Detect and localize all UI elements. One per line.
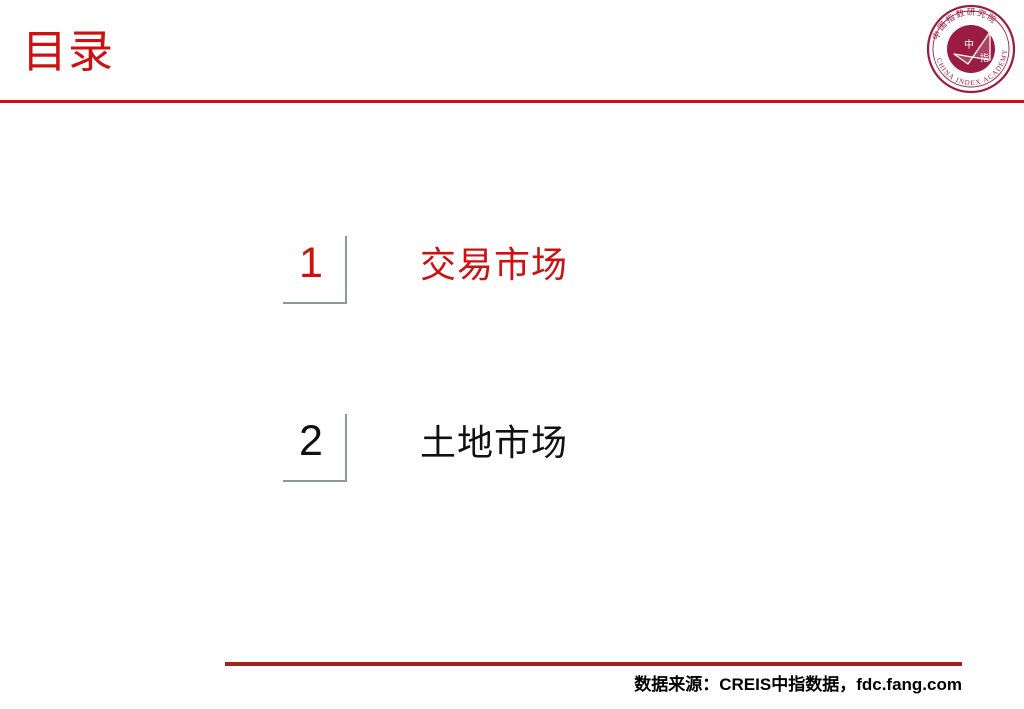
- toc-number-box-2: 2: [283, 414, 347, 482]
- header-divider: [0, 100, 1024, 103]
- slide: 目录 中 指 中国指数研究院 CHINA INDEX ACADEMY: [0, 0, 1024, 709]
- china-index-academy-logo-icon: 中 指 中国指数研究院 CHINA INDEX ACADEMY: [924, 2, 1018, 96]
- slide-footer: 数据来源：CREIS中指数据，fdc.fang.com: [0, 644, 1024, 709]
- table-of-contents: 1 交易市场 2 土地市场: [0, 104, 1024, 644]
- toc-label-1[interactable]: 交易市场: [420, 240, 568, 290]
- data-source-note: 数据来源：CREIS中指数据，fdc.fang.com: [0, 672, 962, 698]
- toc-item-1[interactable]: 1 交易市场: [283, 236, 883, 308]
- svg-text:指: 指: [980, 52, 989, 64]
- toc-number-2: 2: [283, 416, 339, 466]
- toc-item-2[interactable]: 2 土地市场: [283, 414, 883, 486]
- toc-number-1: 1: [283, 238, 339, 288]
- footer-divider: [225, 662, 962, 666]
- svg-text:中: 中: [964, 38, 974, 51]
- slide-header: 目录 中 指 中国指数研究院 CHINA INDEX ACADEMY: [0, 0, 1024, 104]
- toc-number-box-1: 1: [283, 236, 347, 304]
- toc-label-2[interactable]: 土地市场: [420, 418, 568, 468]
- page-title: 目录: [22, 26, 114, 78]
